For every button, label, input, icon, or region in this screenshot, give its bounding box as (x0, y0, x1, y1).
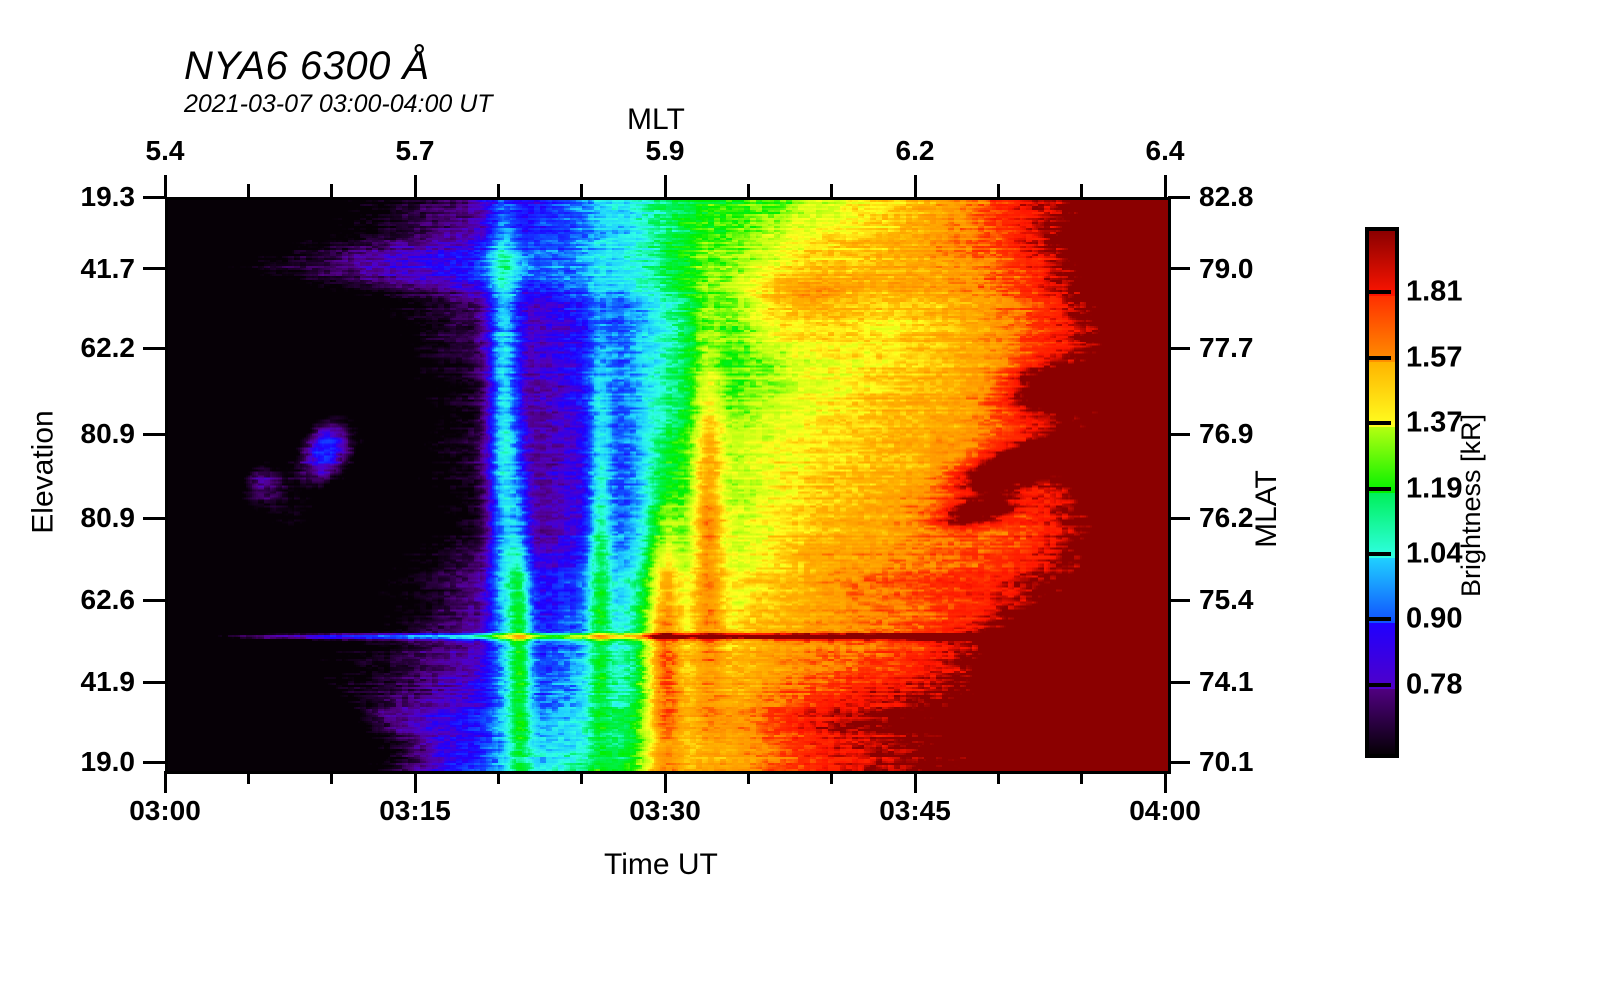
axis-tick (143, 196, 165, 199)
colorbar-divider-3 (1365, 421, 1391, 425)
axis-tick (143, 517, 165, 520)
mlt-tick-label-3: 6.2 (896, 135, 935, 167)
axis-tick (1080, 184, 1083, 197)
mlat-tick-label-7: 70.1 (1199, 746, 1254, 778)
axis-tick (914, 175, 917, 197)
axis-tick (143, 681, 165, 684)
axis-tick (1080, 771, 1083, 784)
time-tick-label-0: 03:00 (129, 795, 201, 827)
colorbar-segment-1 (1369, 296, 1395, 361)
axis-tick (1168, 267, 1190, 270)
colorbar-segment-6 (1369, 623, 1395, 688)
keogram-image (168, 200, 1168, 771)
colorbar-segment-3 (1369, 427, 1395, 492)
elevation-tick-label-5: 62.6 (81, 584, 136, 616)
colorbar-segment-0 (1369, 231, 1395, 296)
axis-tick (747, 771, 750, 784)
axis-tick (414, 175, 417, 197)
axis-tick (143, 433, 165, 436)
mlat-tick-label-3: 76.9 (1199, 418, 1254, 450)
axis-tick (830, 771, 833, 784)
axis-tick (414, 771, 417, 793)
elevation-tick-label-1: 41.7 (81, 253, 136, 285)
elevation-tick-label-0: 19.3 (81, 181, 136, 213)
colorbar-divider-2 (1365, 356, 1391, 360)
colorbar-tick-label-6: 0.78 (1406, 668, 1462, 701)
colorbar-divider-1 (1365, 290, 1391, 294)
time-tick-label-4: 04:00 (1129, 795, 1201, 827)
axis-tick (914, 771, 917, 793)
colorbar-tick-label-3: 1.19 (1406, 472, 1462, 505)
top-axis-title: MLT (627, 103, 685, 137)
keogram-plot-area (165, 197, 1171, 774)
elevation-tick-label-2: 62.2 (81, 332, 136, 364)
axis-tick (1168, 196, 1190, 199)
axis-tick (143, 761, 165, 764)
axis-tick (664, 771, 667, 793)
colorbar-tick-label-0: 1.81 (1406, 276, 1462, 309)
mlt-tick-label-4: 6.4 (1146, 135, 1185, 167)
colorbar-divider-6 (1365, 617, 1391, 621)
axis-tick (747, 184, 750, 197)
bottom-axis-title: Time UT (604, 848, 718, 882)
axis-tick (830, 184, 833, 197)
colorbar-segment-5 (1369, 558, 1395, 623)
colorbar-segment-7 (1369, 689, 1395, 754)
colorbar-tick-label-2: 1.37 (1406, 407, 1462, 440)
colorbar-divider-5 (1365, 552, 1391, 556)
time-tick-label-3: 03:45 (879, 795, 951, 827)
elevation-tick-label-3: 80.9 (81, 418, 136, 450)
elevation-tick-label-7: 19.0 (81, 746, 136, 778)
axis-tick (164, 771, 167, 793)
axis-tick (143, 599, 165, 602)
axis-tick (247, 771, 250, 784)
left-axis-title: Elevation (27, 410, 61, 533)
axis-tick (580, 184, 583, 197)
colorbar-segment-2 (1369, 362, 1395, 427)
time-tick-label-2: 03:30 (629, 795, 701, 827)
plot-subtitle: 2021-03-07 03:00-04:00 UT (184, 90, 493, 119)
mlat-tick-label-5: 75.4 (1199, 584, 1254, 616)
axis-tick (997, 184, 1000, 197)
axis-tick (497, 184, 500, 197)
axis-tick (247, 184, 250, 197)
axis-tick (330, 771, 333, 784)
mlat-tick-label-4: 76.2 (1199, 502, 1254, 534)
axis-tick (1168, 517, 1190, 520)
axis-tick (143, 347, 165, 350)
keogram-canvas (168, 200, 1168, 771)
mlat-tick-label-6: 74.1 (1199, 666, 1254, 698)
colorbar-tick-label-1: 1.57 (1406, 341, 1462, 374)
axis-tick (497, 771, 500, 784)
mlt-tick-label-0: 5.4 (146, 135, 185, 167)
mlat-tick-label-1: 79.0 (1199, 253, 1254, 285)
axis-tick (997, 771, 1000, 784)
time-tick-label-1: 03:15 (379, 795, 451, 827)
axis-tick (1168, 681, 1190, 684)
mlt-tick-label-1: 5.7 (396, 135, 435, 167)
axis-tick (1168, 433, 1190, 436)
axis-tick (580, 771, 583, 784)
elevation-tick-label-4: 80.9 (81, 502, 136, 534)
mlt-tick-label-2: 5.9 (646, 135, 685, 167)
axis-tick (1168, 761, 1190, 764)
axis-tick (664, 175, 667, 197)
mlat-tick-label-2: 77.7 (1199, 332, 1254, 364)
axis-tick (164, 175, 167, 197)
axis-tick (330, 184, 333, 197)
colorbar-divider-4 (1365, 487, 1391, 491)
axis-tick (1168, 347, 1190, 350)
colorbar (1365, 227, 1399, 758)
axis-tick (1164, 175, 1167, 197)
colorbar-tick-label-5: 0.90 (1406, 603, 1462, 636)
mlat-tick-label-0: 82.8 (1199, 181, 1254, 213)
axis-tick (143, 267, 165, 270)
right-axis-title: MLAT (1250, 470, 1284, 548)
plot-title: NYA6 6300 Å (184, 44, 430, 89)
elevation-tick-label-6: 41.9 (81, 666, 136, 698)
colorbar-tick-label-4: 1.04 (1406, 537, 1462, 570)
colorbar-segment-4 (1369, 493, 1395, 558)
axis-tick (1164, 771, 1167, 793)
axis-tick (1168, 599, 1190, 602)
colorbar-divider-7 (1365, 683, 1391, 687)
